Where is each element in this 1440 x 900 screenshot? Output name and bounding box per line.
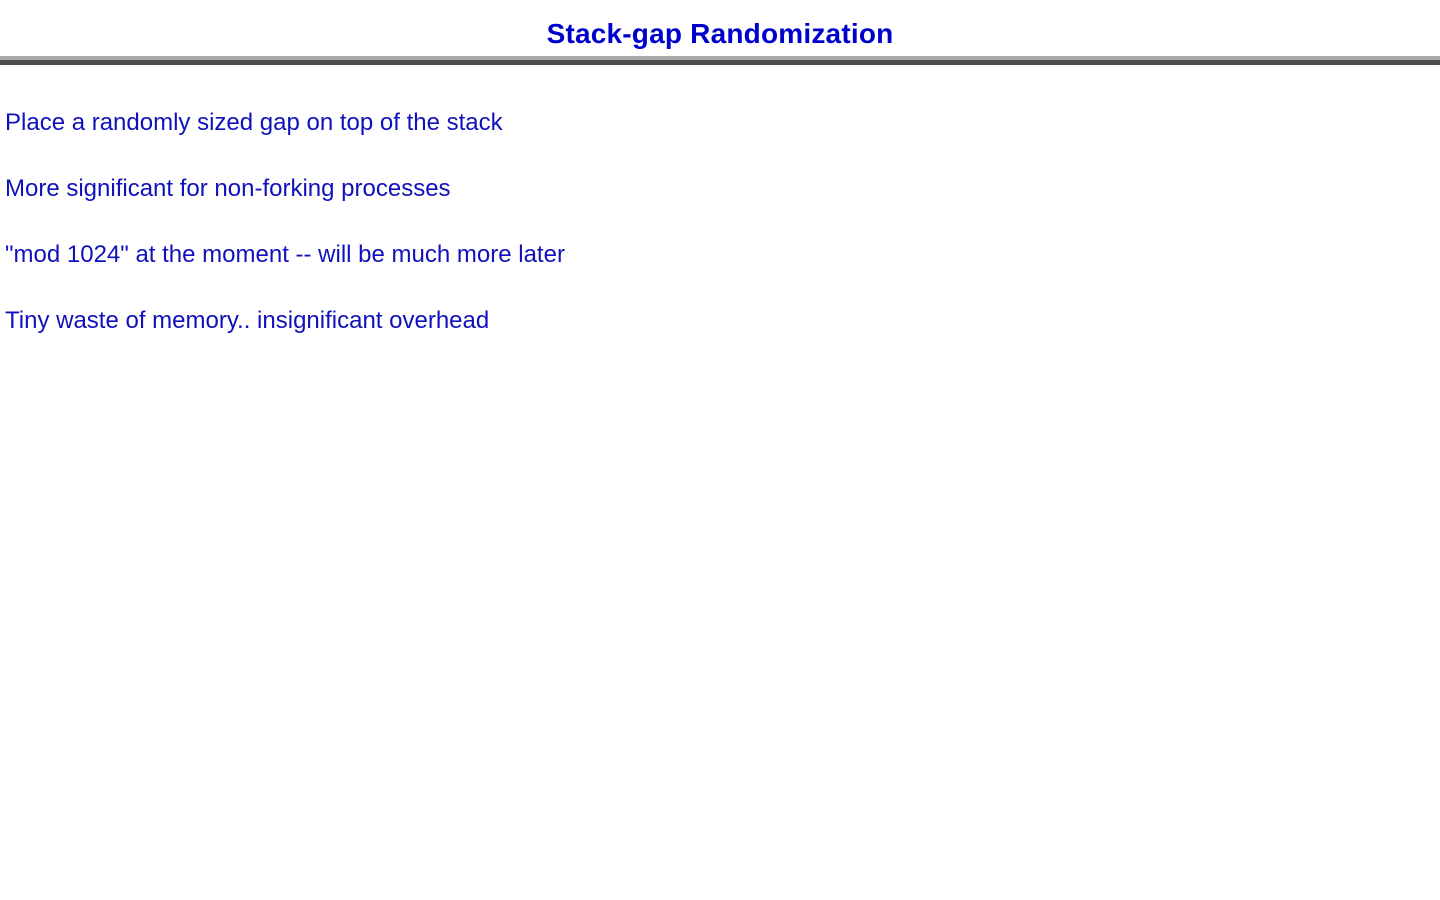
slide-page: Stack-gap Randomization Place a randomly… — [0, 0, 1440, 900]
title-divider — [0, 56, 1440, 65]
body-line: Place a randomly sized gap on top of the… — [5, 108, 1425, 138]
body-line: Tiny waste of memory.. insignificant ove… — [5, 306, 1425, 336]
body-line: "mod 1024" at the moment -- will be much… — [5, 240, 1425, 270]
page-title: Stack-gap Randomization — [0, 17, 1440, 51]
body-line: More significant for non-forking process… — [5, 174, 1425, 204]
slide-body: Place a randomly sized gap on top of the… — [5, 108, 1425, 336]
divider-shadow-band — [0, 60, 1440, 65]
